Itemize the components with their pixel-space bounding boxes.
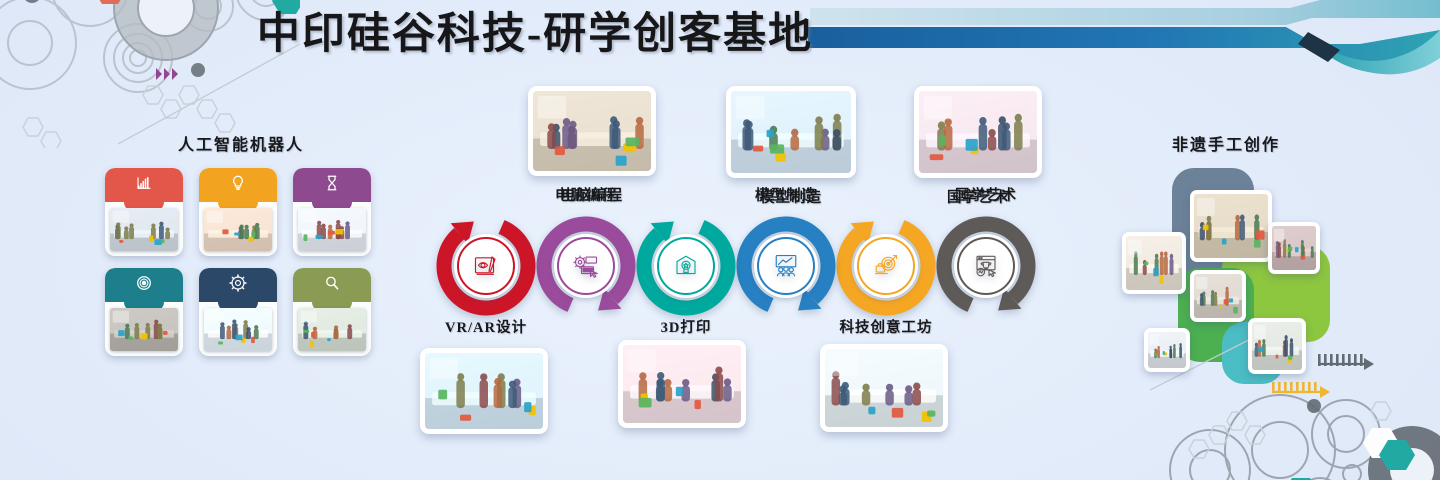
target-icon <box>105 271 183 295</box>
photo-frame <box>623 345 741 423</box>
bar-chart-icon <box>105 171 183 195</box>
photo-image <box>731 91 851 173</box>
top-photo-2[interactable] <box>726 86 856 178</box>
top-photo-1[interactable] <box>528 86 656 176</box>
process-step-4[interactable] <box>732 212 840 320</box>
photo-image <box>1148 332 1186 368</box>
ai-card-photo <box>204 208 272 251</box>
photo-image <box>1252 322 1302 370</box>
photo-frame <box>1148 332 1186 368</box>
lightbulb-icon <box>199 171 277 195</box>
photo-image <box>298 208 366 251</box>
top-photo-3[interactable] <box>914 86 1042 178</box>
ai-card-3[interactable] <box>293 168 371 256</box>
process-step-icon-core <box>454 234 518 298</box>
header-ribbon <box>800 0 1440 80</box>
photo-image <box>1194 274 1242 318</box>
photo-frame <box>919 91 1037 173</box>
photo-image <box>110 308 178 351</box>
ai-card-grid <box>105 168 371 356</box>
craft-photo-5[interactable] <box>1144 328 1190 372</box>
gear-icon <box>199 271 277 295</box>
photo-image <box>533 91 651 171</box>
process-step-6[interactable] <box>932 212 1040 320</box>
top-photo-caption-3: 国学艺术 <box>947 186 1009 207</box>
craft-photo-2[interactable] <box>1190 190 1272 262</box>
ai-card-photo <box>298 208 366 251</box>
ai-card-5[interactable] <box>199 268 277 356</box>
craft-photo-cluster <box>1100 150 1440 380</box>
top-photo-caption-2: 模型制造 <box>760 186 822 207</box>
process-step-icon-core <box>954 234 1018 298</box>
badge-envelope-icon <box>671 251 701 281</box>
photo-frame <box>1272 226 1316 270</box>
ai-card-photo <box>110 208 178 251</box>
ai-card-2[interactable] <box>199 168 277 256</box>
target-camera-icon <box>871 251 901 281</box>
bottom-photo-2[interactable] <box>618 340 746 428</box>
photo-image <box>623 345 741 423</box>
ai-card-4[interactable] <box>105 268 183 356</box>
process-ring-row <box>432 212 1042 320</box>
photo-image <box>1272 226 1316 270</box>
process-step-icon-core <box>854 234 918 298</box>
ai-card-photo <box>298 308 366 351</box>
photo-image <box>1126 236 1182 290</box>
hourglass-icon <box>293 171 371 195</box>
gear-keyboard-icon <box>571 251 601 281</box>
ai-card-6[interactable] <box>293 268 371 356</box>
photo-image <box>425 353 543 429</box>
photo-image <box>919 91 1037 173</box>
poster-canvas: 中印硅谷科技-研学创客基地 人工智能机器人 非遗手工创作 <box>0 0 1440 480</box>
photo-frame <box>1194 194 1268 258</box>
process-step-2[interactable] <box>532 212 640 320</box>
section-heading-ai: 人工智能机器人 <box>178 131 304 155</box>
craft-photo-3[interactable] <box>1268 222 1320 274</box>
process-step-5[interactable] <box>832 212 940 320</box>
craft-photo-4[interactable] <box>1190 270 1246 322</box>
ai-card-photo <box>110 308 178 351</box>
bottom-photo-3[interactable] <box>820 344 948 432</box>
magnifier-icon <box>293 271 371 295</box>
photo-frame <box>825 349 943 427</box>
craft-photo-6[interactable] <box>1248 318 1306 374</box>
process-step-3[interactable] <box>632 212 740 320</box>
process-step-1[interactable] <box>432 212 540 320</box>
photo-frame <box>1126 236 1182 290</box>
page-title: 中印硅谷科技-研学创客基地 <box>250 6 820 64</box>
photo-frame <box>731 91 851 173</box>
top-photo-caption-1: 电脑编程 <box>561 184 623 205</box>
photo-image <box>825 349 943 427</box>
photo-frame <box>1194 274 1242 318</box>
photo-frame <box>425 353 543 429</box>
trophy-browser-icon <box>971 251 1001 281</box>
photo-image <box>298 308 366 351</box>
photo-image <box>204 208 272 251</box>
ai-card-1[interactable] <box>105 168 183 256</box>
craft-photo-1[interactable] <box>1122 232 1186 294</box>
presentation-people-icon <box>771 251 801 281</box>
process-step-icon-core <box>754 234 818 298</box>
ai-card-photo <box>204 308 272 351</box>
photo-frame <box>533 91 651 171</box>
process-step-icon-core <box>554 234 618 298</box>
photo-frame <box>1252 322 1302 370</box>
process-step-icon-core <box>654 234 718 298</box>
photo-image <box>204 308 272 351</box>
bottom-photo-1[interactable] <box>420 348 548 434</box>
photo-image <box>1194 194 1268 258</box>
photo-image <box>110 208 178 251</box>
vr-tablet-icon <box>471 251 501 281</box>
